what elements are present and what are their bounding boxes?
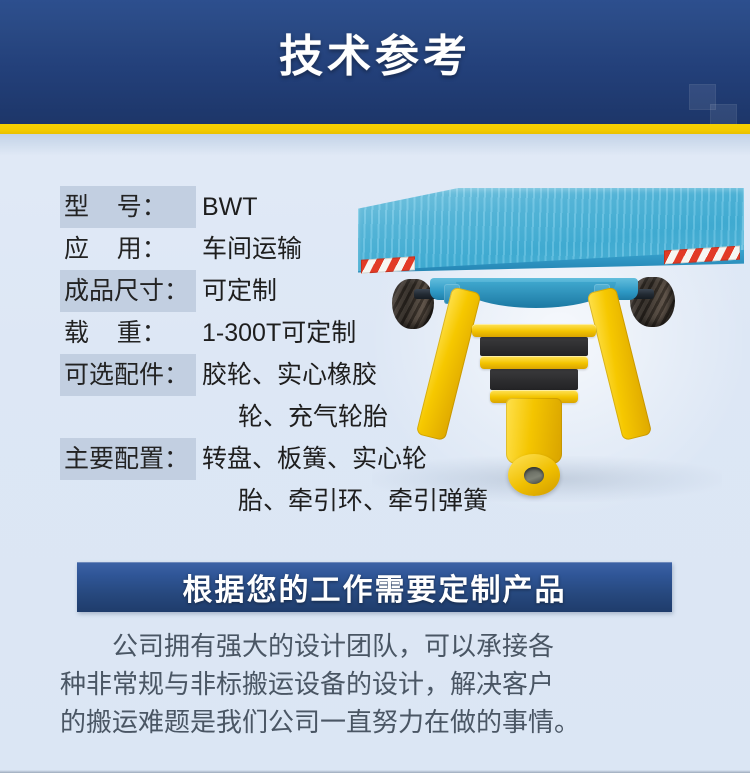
description-line: 的搬运难题是我们公司一直努力在做的事情。 [60,703,700,741]
specification-list: 型 号： BWT 应 用： 车间运输 成品尺寸： 可定制 载 重： 1-300T… [60,186,530,522]
description-line: 公司拥有强大的设计团队，可以承接各 [60,627,700,665]
spec-value: 车间运输 [196,228,302,270]
description-line: 种非常规与非标搬运设备的设计，解决客户 [60,665,700,703]
spec-value-continued: 胎、牵引环、牵引弹簧 [196,480,488,522]
spec-row: 主要配置： 转盘、板簧、实心轮 [60,438,530,480]
spec-row-continuation: 轮、充气轮胎 [60,396,530,438]
spec-label: 主要配置： [60,438,196,480]
callout-text: 根据您的工作需要定制产品 [183,565,567,609]
spec-value: 1-300T可定制 [196,312,356,354]
spec-row: 应 用： 车间运输 [60,228,530,270]
spec-value-continued: 轮、充气轮胎 [196,396,388,438]
header-accent-bar [0,124,750,134]
page-header: 技术参考 [0,0,750,124]
spec-value: 可定制 [196,270,277,312]
spec-row-continuation: 胎、牵引环、牵引弹簧 [60,480,530,522]
spec-label: 成品尺寸： [60,270,196,312]
decorative-square-icon [710,104,737,124]
spec-row: 载 重： 1-300T可定制 [60,312,530,354]
spec-row: 可选配件： 胶轮、实心橡胶 [60,354,530,396]
spec-row: 成品尺寸： 可定制 [60,270,530,312]
page-root: 技术参考 型 号： [0,0,750,773]
spec-row: 型 号： BWT [60,186,530,228]
spec-label: 型 号： [60,186,196,228]
spec-value: BWT [196,186,258,228]
page-title: 技术参考 [0,26,750,88]
description-paragraph: 公司拥有强大的设计团队，可以承接各 种非常规与非标搬运设备的设计，解决客户 的搬… [60,627,700,741]
spec-value: 胶轮、实心橡胶 [196,354,377,396]
spec-label: 载 重： [60,312,196,354]
spec-label-spacer [60,396,196,438]
spec-label-spacer [60,480,196,522]
header-shadow-fade [0,134,750,156]
spec-value: 转盘、板簧、实心轮 [196,438,427,480]
callout-banner: 根据您的工作需要定制产品 [77,562,672,612]
spec-label: 可选配件： [60,354,196,396]
spec-label: 应 用： [60,228,196,270]
